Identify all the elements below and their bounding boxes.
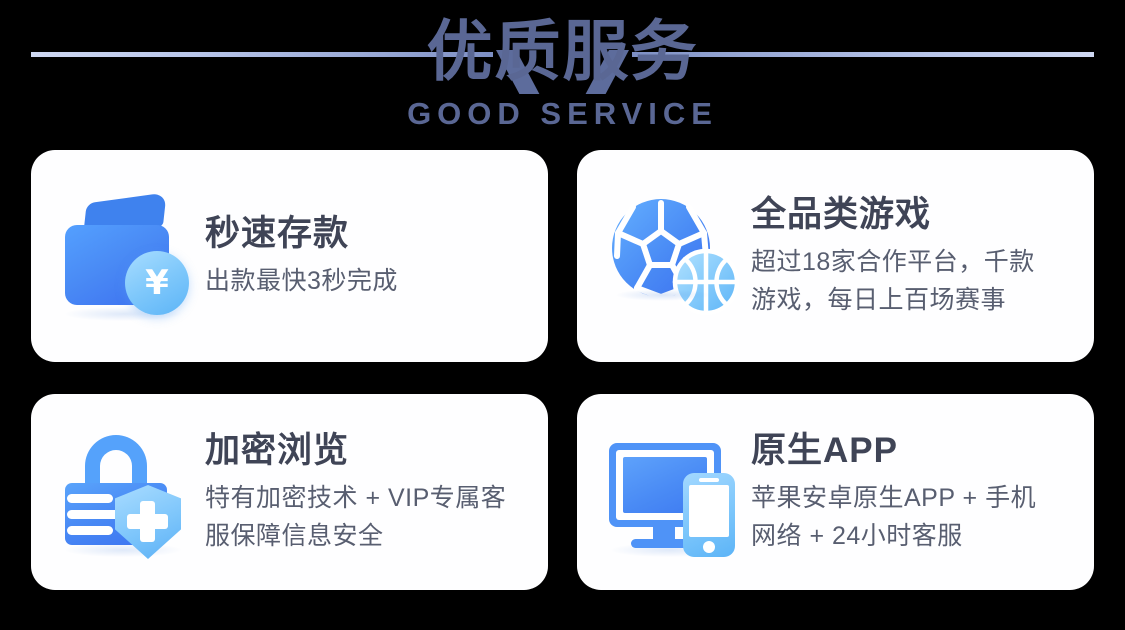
feature-card-deposit[interactable]: ¥ 秒速存款 出款最快3秒完成 — [31, 150, 548, 362]
card-subtitle: 特有加密技术 + VIP专属客 服保障信息安全 — [205, 479, 506, 555]
card-subtitle: 出款最快3秒完成 — [205, 262, 398, 300]
feature-card-games[interactable]: 全品类游戏 超过18家合作平台，千款 游戏，每日上百场赛事 — [577, 150, 1094, 362]
monitor-phone-icon — [603, 429, 739, 555]
shield-cross-icon — [127, 514, 168, 529]
card-title: 全品类游戏 — [751, 193, 1035, 237]
card-subtitle: 超过18家合作平台，千款 游戏，每日上百场赛事 — [751, 243, 1035, 319]
card-title: 加密浏览 — [205, 429, 506, 473]
yen-symbol: ¥ — [125, 251, 189, 315]
lock-shield-icon — [57, 429, 193, 555]
feature-card-native-app[interactable]: 原生APP 苹果安卓原生APP + 手机 网络 + 24小时客服 — [577, 394, 1094, 590]
card-title: 秒速存款 — [205, 212, 398, 256]
feature-card-encryption[interactable]: 加密浏览 特有加密技术 + VIP专属客 服保障信息安全 — [31, 394, 548, 590]
feature-card-text: 秒速存款 出款最快3秒完成 — [205, 212, 398, 300]
phone-home-button-shape — [703, 541, 715, 553]
page-title: 优质服务 — [0, 6, 1125, 96]
feature-card-grid: ¥ 秒速存款 出款最快3秒完成 — [31, 150, 1094, 590]
phone-screen-shape — [689, 485, 729, 537]
soccer-basketball-icon — [603, 193, 739, 319]
card-subtitle: 苹果安卓原生APP + 手机 网络 + 24小时客服 — [751, 479, 1036, 555]
lock-slot-shape — [67, 526, 113, 535]
feature-card-text: 加密浏览 特有加密技术 + VIP专属客 服保障信息安全 — [205, 429, 506, 555]
feature-card-text: 全品类游戏 超过18家合作平台，千款 游戏，每日上百场赛事 — [751, 193, 1035, 319]
banner-header: 优质服务 GOOD SERVICE — [0, 0, 1125, 150]
good-service-banner: 优质服务 GOOD SERVICE ¥ 秒速存款 出款最快3秒完成 — [0, 0, 1125, 630]
card-title: 原生APP — [751, 429, 1036, 473]
lock-slot-shape — [67, 494, 113, 503]
icon-shadow — [615, 289, 711, 301]
phone-speaker-shape — [699, 478, 719, 482]
yen-coin-badge: ¥ — [125, 251, 189, 315]
icon-shadow — [65, 543, 181, 557]
page-subtitle: GOOD SERVICE — [0, 97, 1125, 131]
wallet-yen-icon: ¥ — [57, 193, 193, 319]
feature-card-text: 原生APP 苹果安卓原生APP + 手机 网络 + 24小时客服 — [751, 429, 1036, 555]
